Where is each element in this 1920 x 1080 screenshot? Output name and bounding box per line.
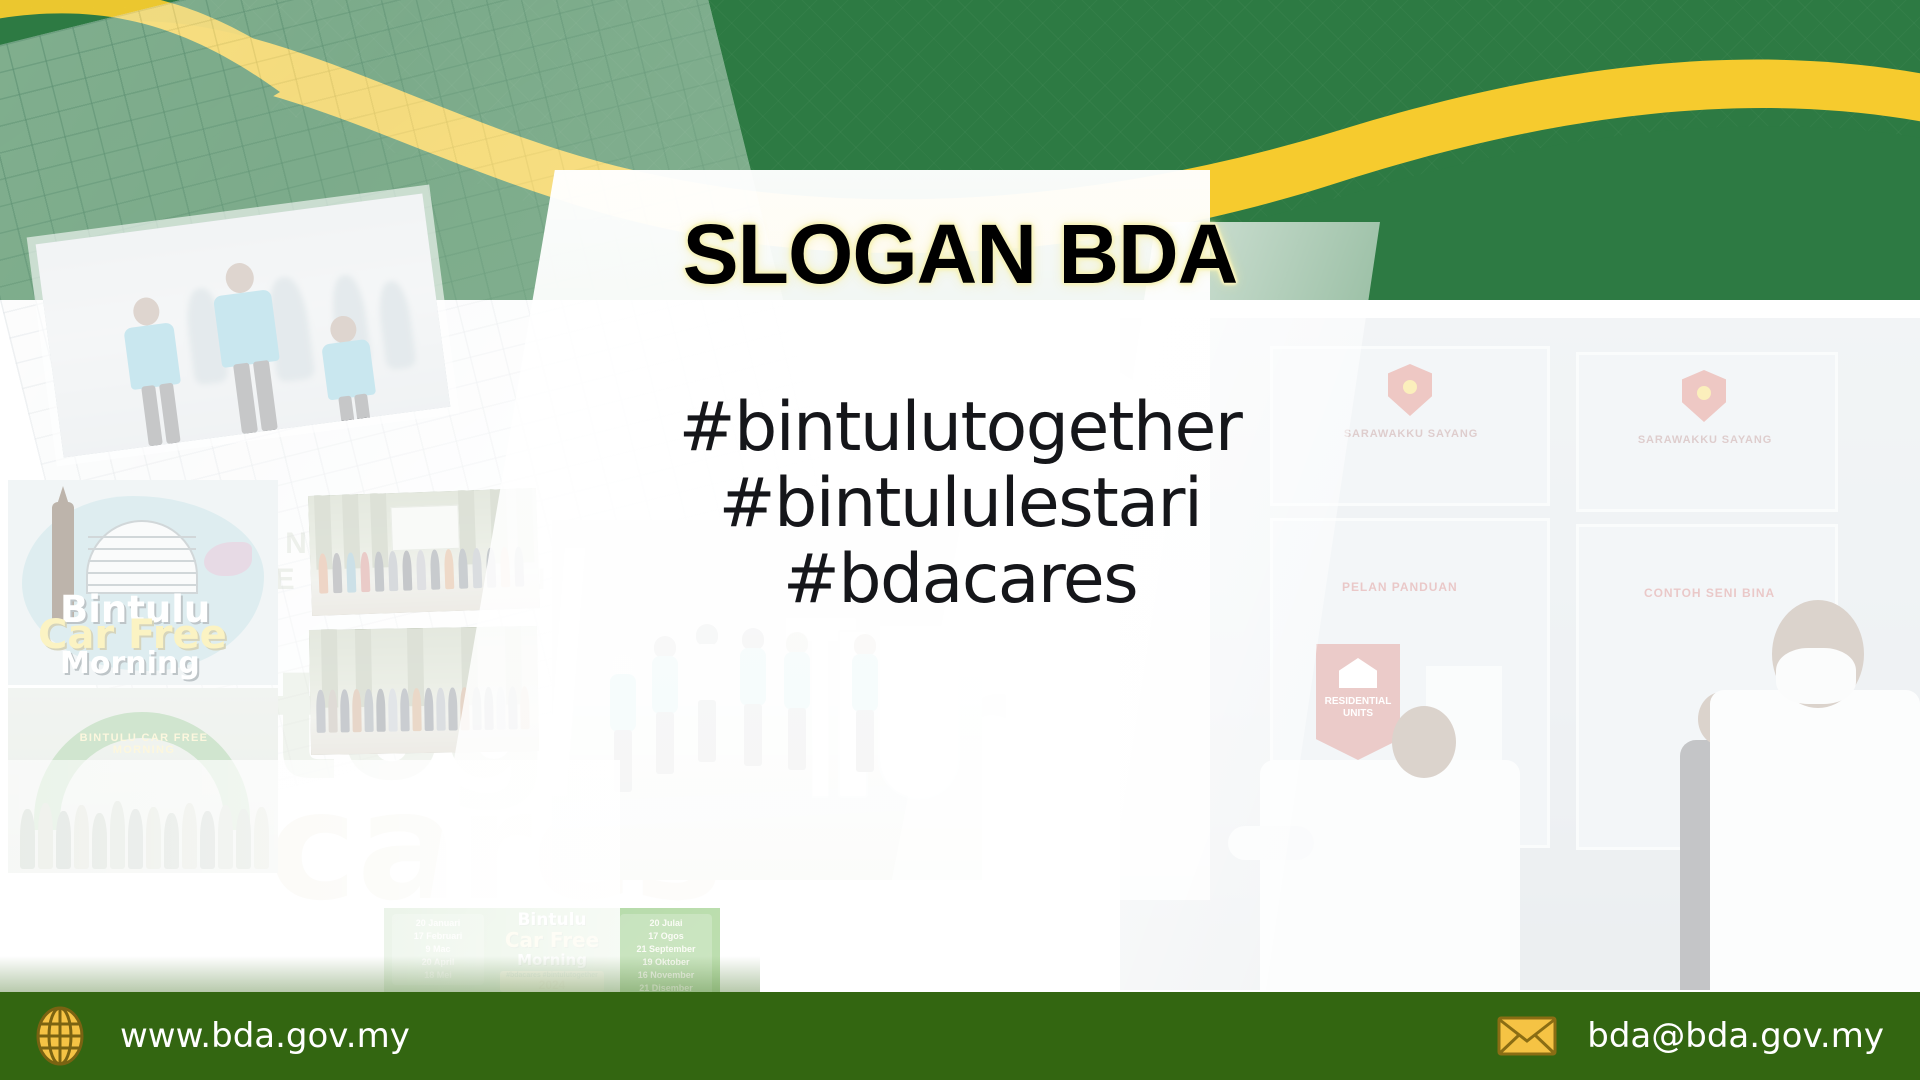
hashtag-bintulutogether: #bintulutogether <box>0 390 1920 466</box>
globe-icon <box>28 1004 92 1068</box>
footer-shade <box>0 956 760 992</box>
footer-email[interactable]: bda@bda.gov.my <box>1495 1004 1884 1068</box>
hashtag-bdacares: #bdacares <box>0 542 1920 618</box>
footer-website[interactable]: www.bda.gov.my <box>28 1004 410 1068</box>
page-title: SLOGAN BDA <box>0 206 1920 303</box>
hashtag-bintululestari: #bintululestari <box>0 466 1920 542</box>
envelope-icon <box>1495 1004 1559 1068</box>
slogan-bda-banner: B I N T U L U F R E E M O R N I N G toge… <box>0 0 1920 1080</box>
hashtag-list: #bintulutogether #bintululestari #bdacar… <box>0 390 1920 618</box>
footer-bar: www.bda.gov.my bda@bda.gov.my <box>0 992 1920 1080</box>
email-label: bda@bda.gov.my <box>1587 1016 1884 1056</box>
website-label: www.bda.gov.my <box>120 1016 410 1056</box>
